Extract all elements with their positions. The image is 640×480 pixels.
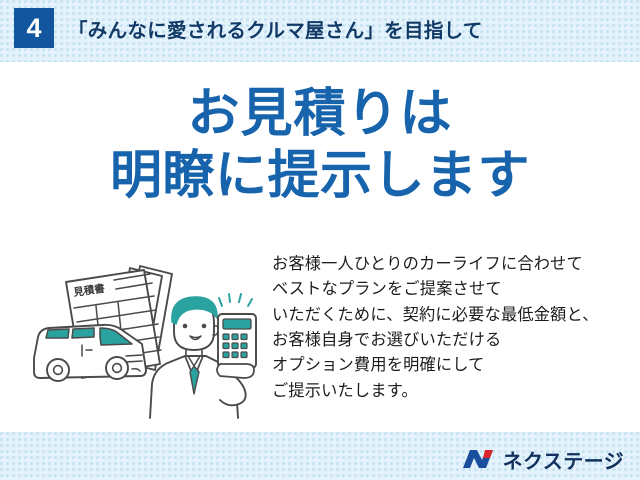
section-number-badge: 4: [14, 8, 54, 48]
body-paragraph: お客様一人ひとりのカーライフに合わせて ベストなプランをご提案させて いただくた…: [272, 252, 632, 404]
sales-staff-illustration: 見積書: [22, 252, 272, 422]
sparkle-icon: [219, 294, 252, 306]
headline-line-2: 明瞭に提示します: [0, 146, 640, 208]
slide-root: 4 「みんなに愛されるクルマ屋さん」を目指して お見積りは 明瞭に提示します お…: [0, 0, 640, 480]
body-line-6: ご提示いたします。: [272, 379, 632, 404]
body-line-5: オプション費用を明確にして: [272, 353, 632, 378]
header-bar: 4 「みんなに愛されるクルマ屋さん」を目指して: [0, 0, 640, 56]
content-card: お見積りは 明瞭に提示します お客様一人ひとりのカーライフに合わせて ベストなプ…: [0, 62, 640, 432]
illustration-svg: 見積書: [22, 252, 272, 422]
n-logo-icon: [462, 447, 496, 471]
headline-line-1: お見積りは: [0, 84, 640, 146]
brand-name: ネクステージ: [503, 445, 624, 474]
header-title: 「みんなに愛されるクルマ屋さん」を目指して: [68, 14, 483, 43]
body-line-1: お客様一人ひとりのカーライフに合わせて: [272, 252, 632, 277]
headline: お見積りは 明瞭に提示します: [0, 84, 640, 208]
calculator-icon: [217, 314, 256, 378]
body-line-2: ベストなプランをご提案させて: [272, 277, 632, 302]
body-line-4: お客様自身でお選びいただける: [272, 328, 632, 353]
body-line-3: いただくために、契約に必要な最低金額と、: [272, 303, 632, 328]
brand-logo: ネクステージ: [462, 445, 624, 473]
